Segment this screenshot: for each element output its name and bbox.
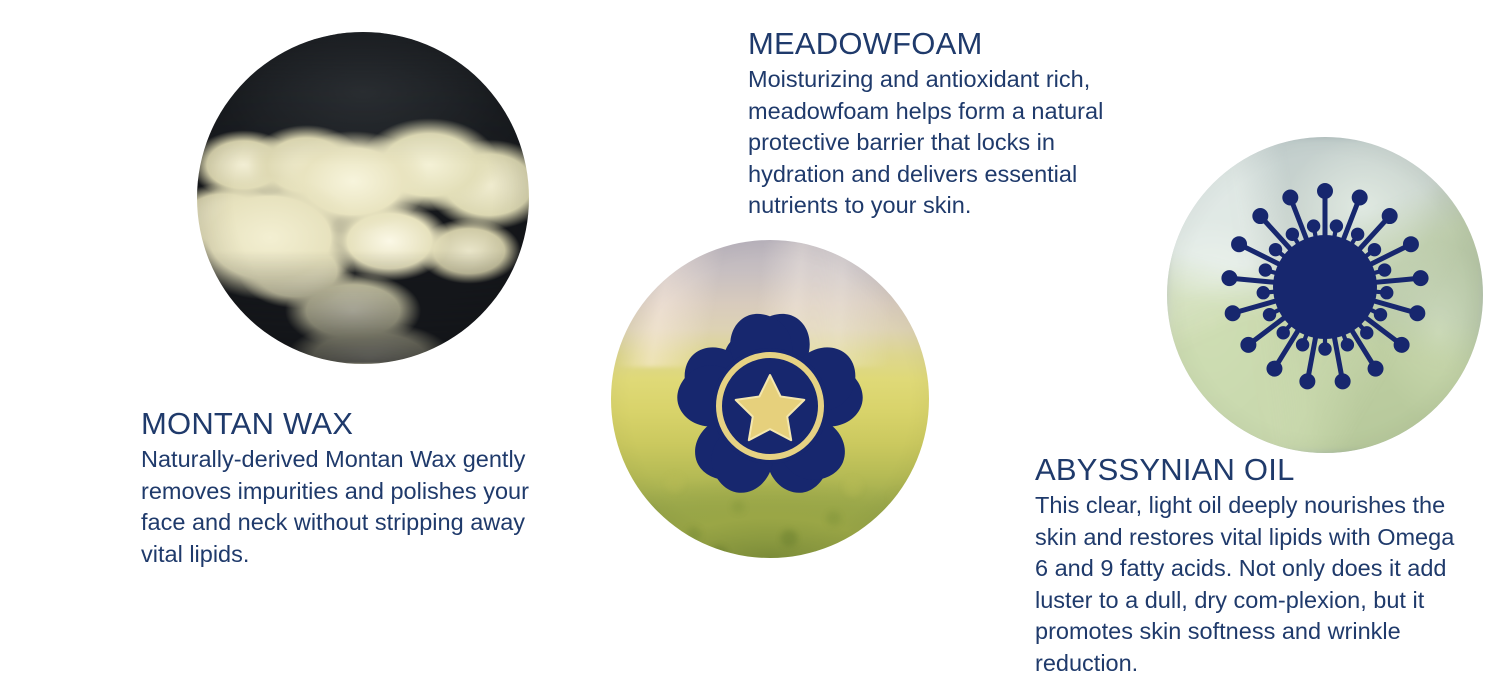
ingredient-title-meadowfoam: MEADOWFOAM	[748, 26, 1158, 62]
abyssynian-starburst-icon	[1167, 137, 1483, 453]
ingredient-title-montan-wax: MONTAN WAX	[141, 406, 561, 442]
ingredient-body-abyssynian-oil: This clear, light oil deeply nourishes t…	[1035, 490, 1465, 679]
ingredients-panel: MONTAN WAX Naturally-derived Montan Wax …	[0, 0, 1500, 675]
ingredient-block-meadowfoam: MEADOWFOAM Moisturizing and antioxidant …	[748, 26, 1158, 222]
meadowfoam-flower-icon	[611, 240, 929, 558]
abyssynian-starburst-mark	[1167, 137, 1483, 453]
ingredient-title-abyssynian-oil: ABYSSYNIAN OIL	[1035, 452, 1465, 488]
ingredient-block-montan-wax: MONTAN WAX Naturally-derived Montan Wax …	[141, 406, 561, 570]
ingredient-block-abyssynian-oil: ABYSSYNIAN OIL This clear, light oil dee…	[1035, 452, 1465, 679]
ingredient-body-montan-wax: Naturally-derived Montan Wax gently remo…	[141, 444, 561, 570]
meadowfoam-flower-mark	[611, 240, 929, 558]
photo-vignette	[197, 32, 529, 364]
wax-pellets-photo	[197, 32, 529, 364]
ingredient-body-meadowfoam: Moisturizing and antioxidant rich, meado…	[748, 64, 1158, 222]
